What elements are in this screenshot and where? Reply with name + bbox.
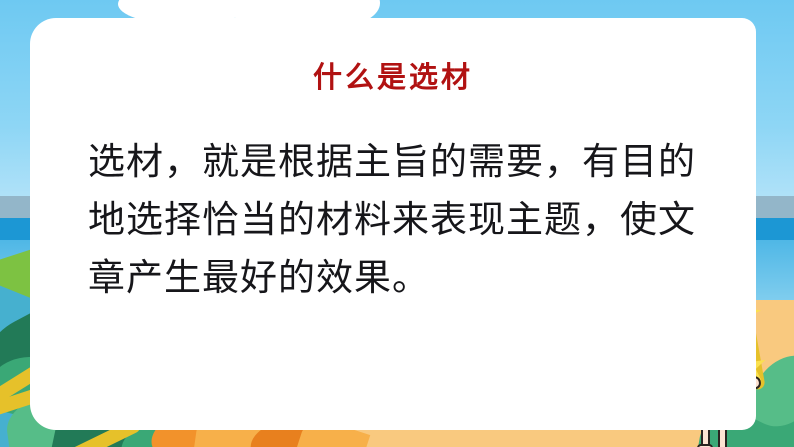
body-line: 选材，就是根据主旨的需要，有目的 [88,134,698,192]
page-title: 什么是选材 [30,54,756,96]
slide-canvas: 什么是选材 选材，就是根据主旨的需要，有目的 地选择恰当的材料来表现主题，使文 … [0,0,794,447]
body-paragraph: 选材，就是根据主旨的需要，有目的 地选择恰当的材料来表现主题，使文 章产生最好的… [88,134,698,308]
body-line: 章产生最好的效果。 [88,250,698,308]
body-line: 地选择恰当的材料来表现主题，使文 [88,192,698,250]
content-card: 什么是选材 选材，就是根据主旨的需要，有目的 地选择恰当的材料来表现主题，使文 … [30,18,756,430]
